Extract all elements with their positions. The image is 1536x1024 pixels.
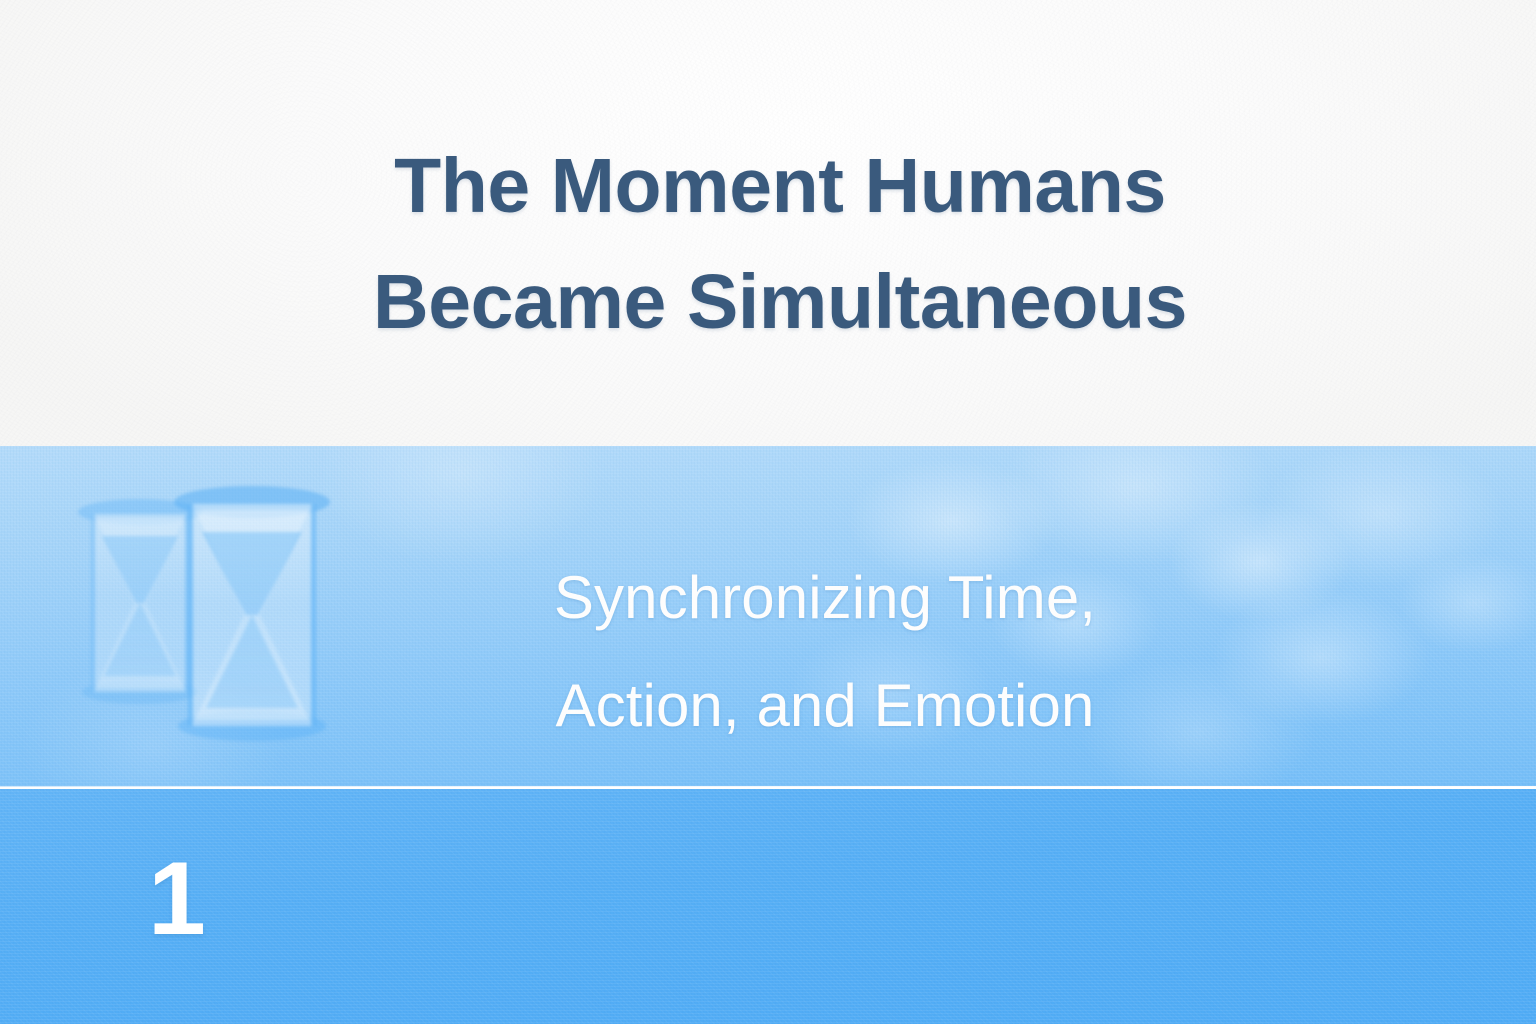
title-line-1: The Moment Humans <box>0 128 1536 244</box>
footer-speckle-overlay <box>0 789 1536 1024</box>
slide-title: The Moment Humans Became Simultaneous <box>0 128 1536 360</box>
title-line-2: Became Simultaneous <box>0 244 1536 360</box>
subtitle-line-2: Action, and Emotion <box>0 652 1536 760</box>
slide-subtitle: Synchronizing Time, Action, and Emotion <box>0 544 1536 760</box>
title-band: The Moment Humans Became Simultaneous <box>0 0 1536 446</box>
presentation-slide: The Moment Humans Became Simultaneous <box>0 0 1536 1024</box>
footer-band: 1 <box>0 789 1536 1024</box>
subtitle-line-1: Synchronizing Time, <box>0 544 1536 652</box>
slide-number: 1 <box>148 847 206 951</box>
subtitle-band: Synchronizing Time, Action, and Emotion <box>0 446 1536 787</box>
